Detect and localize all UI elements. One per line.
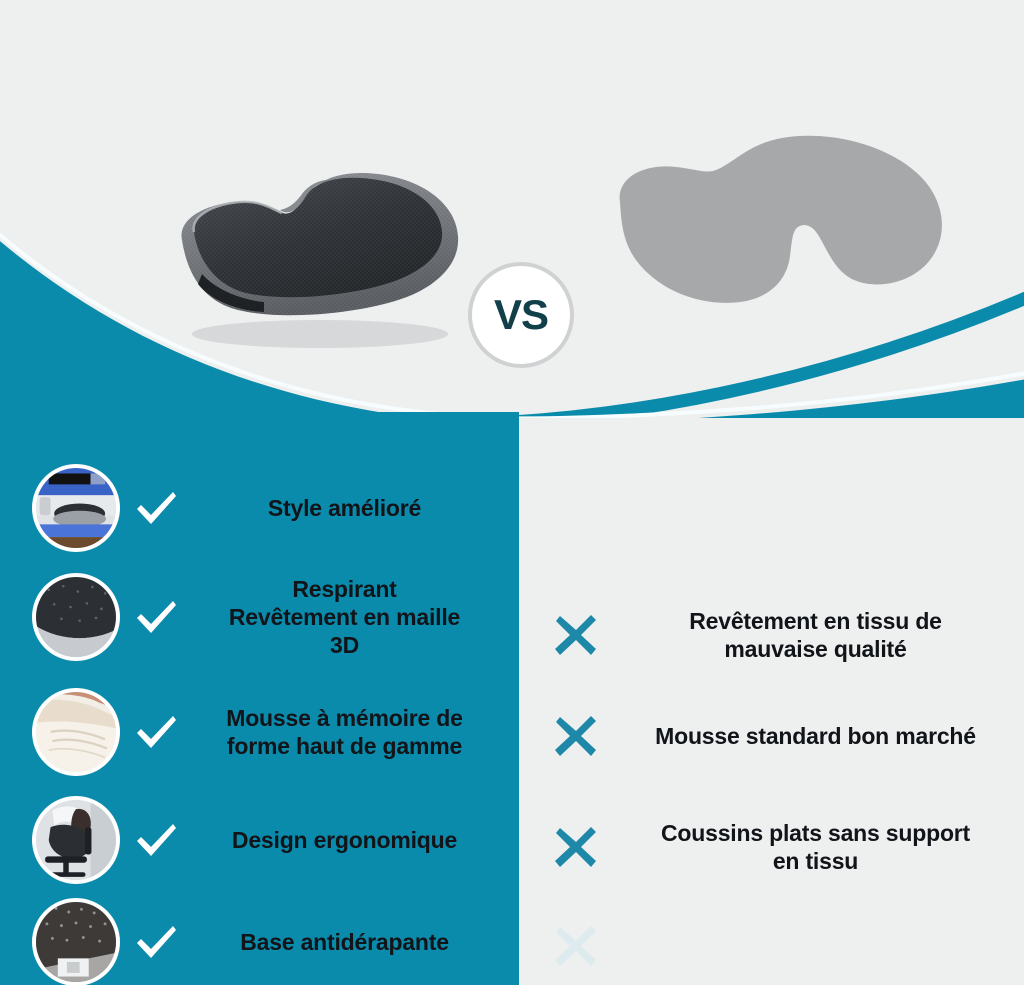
pro-item-label: Mousse à mémoire de forme haut de gamme <box>184 704 511 760</box>
pro-item-label: Respirant Revêtement en maille 3D <box>184 575 511 659</box>
pro-item-row: Style amélioré <box>0 460 511 556</box>
check-icon <box>128 488 184 528</box>
vs-label: VS <box>494 294 548 336</box>
x-icon <box>541 923 611 969</box>
x-icon <box>541 713 611 759</box>
check-icon <box>128 922 184 962</box>
thumb-style-ameliore <box>32 464 120 552</box>
check-icon <box>128 712 184 752</box>
check-icon <box>128 820 184 860</box>
vs-badge: VS <box>468 262 574 368</box>
con-item-row: Mousse standard bon marché <box>511 697 1024 775</box>
x-icon <box>541 824 611 870</box>
con-item-row: Coussins plats sans support en tissu <box>511 792 1024 902</box>
pro-item-label: Base antidérapante <box>184 928 511 956</box>
con-item-label: Revêtement en tissu de mauvaise qualité <box>611 607 1024 663</box>
check-icon <box>128 597 184 637</box>
pro-item-row: Mousse à mémoire de forme haut de gamme <box>0 678 511 786</box>
con-item-label: Mousse standard bon marché <box>611 722 1024 750</box>
con-product-silhouette <box>600 130 960 315</box>
thumb-ergonomic-design <box>32 796 120 884</box>
x-icon <box>541 612 611 658</box>
pro-item-row: Respirant Revêtement en maille 3D <box>0 556 511 678</box>
hero-section: VS <box>0 0 1024 430</box>
thumb-memory-foam <box>32 688 120 776</box>
pro-item-row: Base antidérapante <box>0 894 511 985</box>
con-item-label: Coussins plats sans support en tissu <box>611 819 1024 875</box>
pro-item-label: Design ergonomique <box>184 826 511 854</box>
comparison-columns: Style amélioré <box>0 412 1024 985</box>
pro-item-label: Style amélioré <box>184 494 511 522</box>
con-item-row: Revêtement en tissu de mauvaise qualité <box>511 580 1024 690</box>
comparison-infographic: VS <box>0 0 1024 985</box>
pro-product-image <box>168 158 468 353</box>
thumb-non-slip-base <box>32 898 120 985</box>
con-item-row-faded <box>511 907 1024 985</box>
pro-item-row: Design ergonomique <box>0 786 511 894</box>
thumb-mesh-3d <box>32 573 120 661</box>
